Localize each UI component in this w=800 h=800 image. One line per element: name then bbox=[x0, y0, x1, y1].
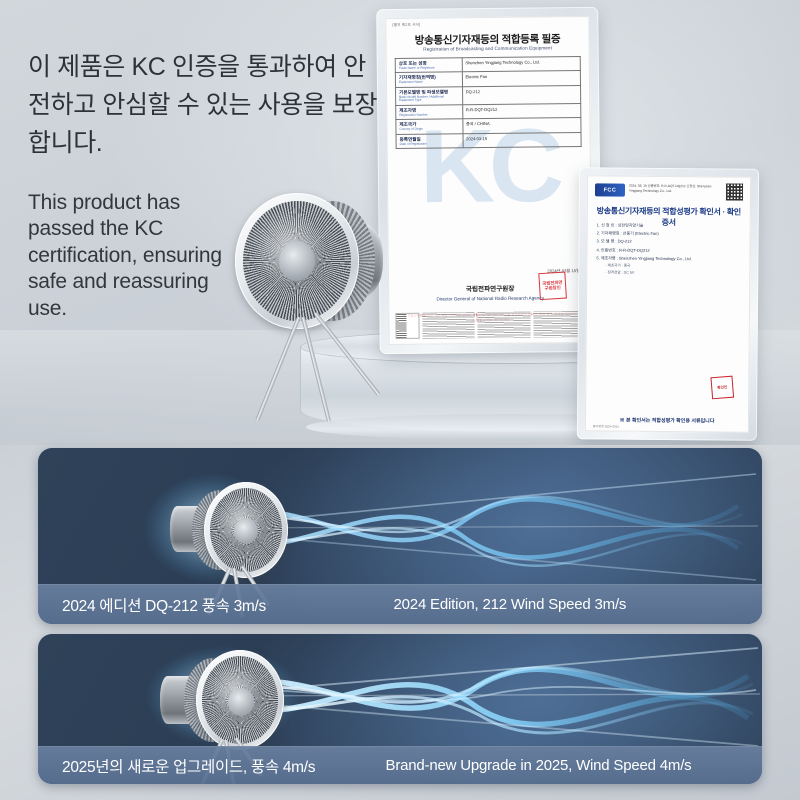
row-value: DQ-212 bbox=[466, 88, 577, 94]
row-value-cell: DQ-212 bbox=[462, 85, 581, 104]
feature-banner-2024: 2024 에디션 DQ-212 풍속 3m/s 2024 Edition, 21… bbox=[38, 448, 762, 624]
row-value-cell: R-R-DQT-DQ212 bbox=[462, 104, 581, 120]
certificate-paper-large: KC [별지 제2호 서식] 방송통신기자재등의 적합등록 필증 Registr… bbox=[385, 16, 592, 345]
table-row: 등록연월일 Date of Registration 2024-03-15 bbox=[396, 132, 581, 148]
qr-code-icon bbox=[726, 184, 743, 201]
list-item: · 정격전압 : DC 5V bbox=[596, 270, 742, 279]
wind-ray bbox=[216, 648, 758, 694]
certificate-frame-large: KC [별지 제2호 서식] 방송통신기자재등의 적합등록 필증 Registr… bbox=[376, 7, 602, 354]
row-label-cell: 제조국가 Country of Origin bbox=[396, 119, 463, 134]
row-label-cell: 제조자명 Registration Number bbox=[396, 105, 463, 120]
caption-korean: 2025년의 새로운 업그레이드, 풍속 4m/s bbox=[38, 755, 386, 777]
certificate-small-footnote: 문서번호 2024-0315 bbox=[593, 424, 619, 428]
page-subtitle: This product has passed the KC certifica… bbox=[28, 190, 243, 322]
row-value-cell: 중국 / CHINA bbox=[462, 118, 581, 134]
table-row: 기본모델명 및 파생모델명 Basic Model Number / Addit… bbox=[396, 85, 581, 105]
certificate-table-body: 상호 또는 성명 Trade Name or Registrant Shenzh… bbox=[395, 57, 581, 149]
row-label-en: Basic Model Number / Additional Equipmen… bbox=[399, 95, 459, 103]
footer-text-block bbox=[478, 312, 531, 339]
row-value: 중국 / CHINA bbox=[466, 121, 577, 127]
tripod-leg bbox=[255, 316, 301, 421]
fan-center-hub bbox=[279, 241, 315, 281]
banner-caption-2025: 2025년의 새로운 업그레이드, 풍속 4m/s Brand-new Upgr… bbox=[38, 746, 762, 784]
official-seal-icon: 국립전파연구원장인 bbox=[538, 272, 567, 301]
feature-banner-2025: 2025년의 새로운 업그레이드, 풍속 4m/s Brand-new Upgr… bbox=[38, 634, 762, 784]
certificate-title-en: Registration of Broadcasting and Communi… bbox=[386, 45, 590, 52]
fan-center-hub bbox=[228, 688, 254, 716]
row-label-en: Registration Number bbox=[399, 113, 459, 117]
caption-korean: 2024 에디션 DQ-212 풍속 3m/s bbox=[38, 594, 386, 616]
row-label-cell: 등록연월일 Date of Registration bbox=[396, 134, 463, 149]
page-title: 이 제품은 KC 인증을 통과하여 안전하고 안심할 수 있는 사용을 보장합니… bbox=[28, 48, 378, 162]
confirmation-stamp-icon: 확인인 bbox=[710, 376, 734, 400]
certificate-top-code: [별지 제2호 서식] bbox=[392, 23, 420, 28]
banner-caption-2024: 2024 에디션 DQ-212 풍속 3m/s 2024 Edition, 21… bbox=[38, 584, 762, 624]
row-value: 2024-03-15 bbox=[466, 135, 577, 141]
agency-logo: FCC bbox=[595, 183, 625, 196]
tripod-leg bbox=[313, 312, 380, 396]
fan-center-hub bbox=[234, 518, 258, 544]
product-fan-hero bbox=[225, 185, 400, 430]
row-label-cell: 상호 또는 성명 Trade Name or Registrant bbox=[395, 58, 462, 73]
row-label-en: Country of Origin bbox=[399, 127, 459, 131]
product-detail-page: KC [별지 제2호 서식] 방송통신기자재등의 적합등록 필증 Registr… bbox=[0, 0, 800, 800]
certificate-small-list: 1. 신 청 인 : 심천잉지앙기술 2. 기자재명칭 : 선풍기 (Elect… bbox=[596, 221, 742, 278]
row-value: Shenzhen Yingjiang Technology Co., Ltd. bbox=[465, 59, 576, 65]
row-value-cell: Shenzhen Yingjiang Technology Co., Ltd. bbox=[462, 57, 581, 73]
row-label-en: Trade Name or Registrant bbox=[399, 66, 459, 70]
row-value-cell: 2024-03-15 bbox=[463, 132, 582, 148]
row-label-en: Date of Registration bbox=[400, 142, 460, 146]
certificate-frame-small: FCC 2024. 03. 15 인증번호: R-R-DQT-DQ212 신청인… bbox=[577, 167, 759, 441]
caption-english: Brand-new Upgrade in 2025, Wind Speed 4m… bbox=[386, 757, 762, 774]
certificate-small-footer: ※ 본 확인서는 적합성평가 확인용 서류입니다 bbox=[593, 416, 741, 424]
certificate-footer-blocks bbox=[395, 311, 585, 339]
certificate-table: 상호 또는 성명 Trade Name or Registrant Shenzh… bbox=[395, 56, 582, 149]
footer-text-block bbox=[422, 312, 475, 339]
caption-english: 2024 Edition, 212 Wind Speed 3m/s bbox=[386, 596, 762, 613]
row-value-cell: Electric Fan bbox=[462, 71, 581, 87]
row-label-en: Equipment Name bbox=[399, 80, 459, 84]
hero-scene: KC [별지 제2호 서식] 방송통신기자재등의 적합등록 필증 Registr… bbox=[0, 0, 800, 445]
row-label-cell: 기본모델명 및 파생모델명 Basic Model Number / Addit… bbox=[396, 87, 463, 106]
row-value: R-R-DQT-DQ212 bbox=[466, 106, 577, 112]
certificate-small-meta: 2024. 03. 15 인증번호: R-R-DQT-DQ212 신청인: Sh… bbox=[629, 184, 719, 194]
row-label-cell: 기자재명칭(번역명) Equipment Name bbox=[395, 72, 462, 87]
tripod-leg bbox=[301, 317, 331, 423]
row-value: Electric Fan bbox=[465, 74, 576, 80]
certificate-paper-small: FCC 2024. 03. 15 인증번호: R-R-DQT-DQ212 신청인… bbox=[585, 175, 751, 432]
